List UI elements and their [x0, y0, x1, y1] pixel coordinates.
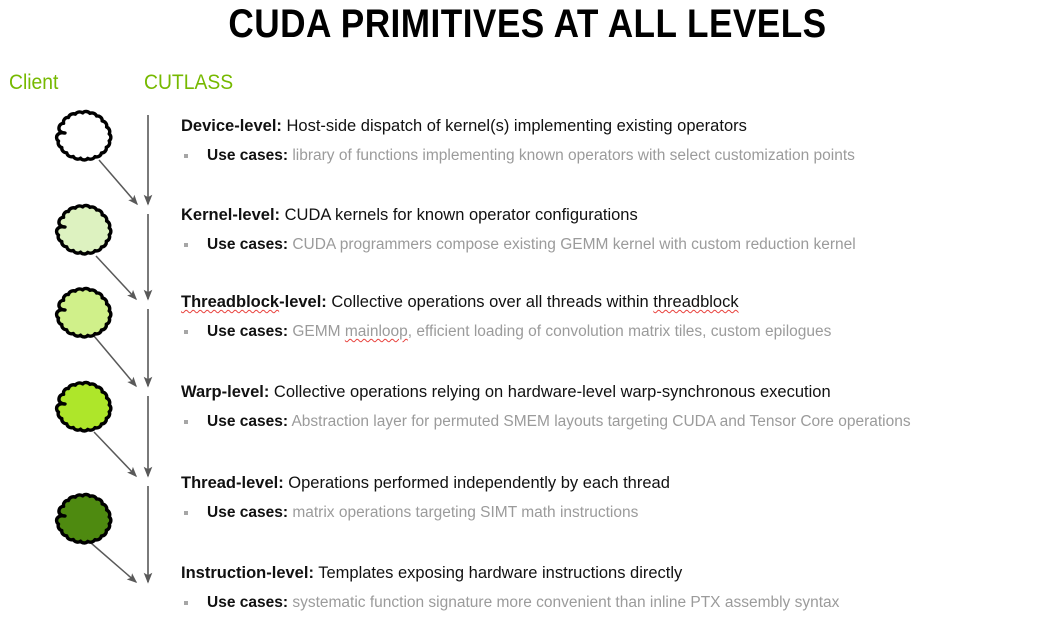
hierarchy-diagram: [0, 0, 200, 637]
column-header-client: Client: [9, 71, 58, 95]
usecase-row-kernel: Use cases: CUDA programmers compose exis…: [181, 235, 1051, 255]
usecase-text-thread: matrix operations targeting SIMT math in…: [288, 504, 638, 521]
level-heading-thread: Thread-level: Operations performed indep…: [181, 473, 1051, 494]
level-heading-warp: Warp-level: Collective operations relyin…: [181, 382, 1051, 403]
client-cloud-kernel: [57, 205, 111, 254]
client-cloud-thread: [57, 494, 111, 543]
usecase-row-device: Use cases: library of functions implemen…: [181, 146, 1051, 166]
usecase-text-device: library of functions implementing known …: [288, 147, 855, 164]
level-block-threadblock: Threadblock-level: Collective operations…: [181, 292, 1051, 342]
bullet-icon: [184, 511, 188, 515]
level-block-thread: Thread-level: Operations performed indep…: [181, 473, 1051, 523]
level-heading-kernel: Kernel-level: CUDA kernels for known ope…: [181, 205, 1051, 226]
level-description-thread: Operations performed independently by ea…: [284, 474, 670, 492]
page-title: CUDA PRIMITIVES AT ALL LEVELS: [63, 2, 991, 46]
level-description-kernel: CUDA kernels for known operator configur…: [280, 206, 638, 224]
bullet-icon: [184, 601, 188, 605]
client-cloud-threadblock: [57, 288, 111, 337]
level-name-device: Device-level:: [181, 117, 282, 135]
usecase-row-threadblock: Use cases: GEMM mainloop, efficient load…: [181, 322, 1051, 342]
level-block-kernel: Kernel-level: CUDA kernels for known ope…: [181, 205, 1051, 255]
column-header-cutlass: CUTLASS: [144, 71, 233, 95]
client-to-cutlass-arrows: [91, 160, 137, 582]
level-name-thread: Thread-level:: [181, 474, 284, 492]
usecase-label-threadblock: Use cases:: [207, 323, 288, 340]
client-cloud-device: [57, 111, 111, 160]
level-description-threadblock-pre: Collective operations over all threads w…: [327, 293, 654, 311]
level-name-warp: Warp-level:: [181, 383, 269, 401]
level-heading-device: Device-level: Host-side dispatch of kern…: [181, 116, 1051, 137]
level-description-threadblock-word: threadblock: [653, 293, 738, 311]
level-heading-threadblock: Threadblock-level: Collective operations…: [181, 292, 1051, 313]
usecase-text-kernel: CUDA programmers compose existing GEMM k…: [288, 236, 856, 253]
level-name-threadblock-suffix: -level:: [279, 293, 327, 311]
usecase-row-thread: Use cases: matrix operations targeting S…: [181, 503, 1051, 523]
level-block-warp: Warp-level: Collective operations relyin…: [181, 382, 1051, 432]
level-name-kernel: Kernel-level:: [181, 206, 280, 224]
client-cloud-warp: [57, 382, 111, 431]
bullet-icon: [184, 243, 188, 247]
usecase-text-warp: Abstraction layer for permuted SMEM layo…: [288, 413, 911, 430]
usecase-text-instruction: systematic function signature more conve…: [288, 594, 839, 611]
bullet-icon: [184, 330, 188, 334]
bullet-icon: [184, 154, 188, 158]
usecase-row-warp: Use cases: Abstraction layer for permute…: [181, 412, 1051, 432]
bullet-icon: [184, 420, 188, 424]
usecase-label-device: Use cases:: [207, 147, 288, 164]
usecase-label-thread: Use cases:: [207, 504, 288, 521]
level-description-device: Host-side dispatch of kernel(s) implemen…: [282, 117, 747, 135]
level-block-instruction: Instruction-level: Templates exposing ha…: [181, 563, 1051, 613]
level-block-device: Device-level: Host-side dispatch of kern…: [181, 116, 1051, 166]
level-heading-instruction: Instruction-level: Templates exposing ha…: [181, 563, 1051, 584]
usecase-label-kernel: Use cases:: [207, 236, 288, 253]
level-name-instruction: Instruction-level:: [181, 564, 314, 582]
slide-canvas: CUDA PRIMITIVES AT ALL LEVELS Client CUT…: [0, 0, 1055, 637]
level-description-instruction: Templates exposing hardware instructions…: [314, 564, 682, 582]
usecase-label-instruction: Use cases:: [207, 594, 288, 611]
usecase-text-threadblock-word: mainloop: [345, 323, 408, 340]
usecase-text-threadblock-pre: GEMM: [288, 323, 345, 340]
usecase-text-threadblock-post: , efficient loading of convolution matri…: [408, 323, 832, 340]
usecase-row-instruction: Use cases: systematic function signature…: [181, 593, 1051, 613]
level-name-threadblock: Threadblock: [181, 293, 279, 311]
usecase-label-warp: Use cases:: [207, 413, 288, 430]
level-description-warp: Collective operations relying on hardwar…: [269, 383, 830, 401]
